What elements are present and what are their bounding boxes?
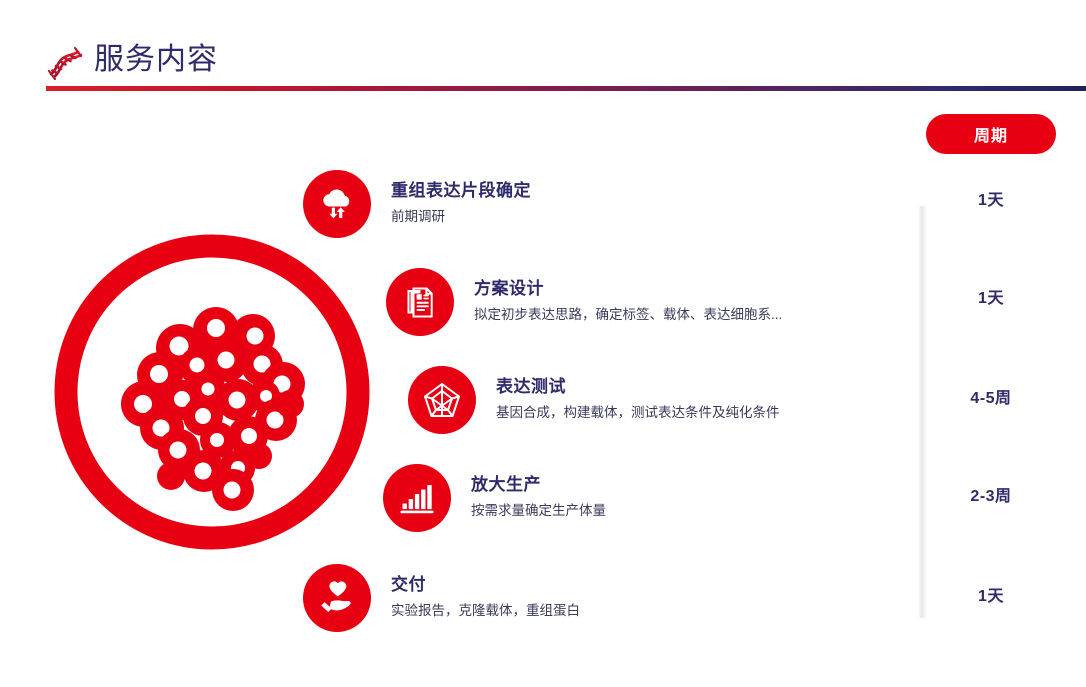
service-step-row[interactable]: 方案设计 拟定初步表达思路，确定标签、载体、表达细胞系... xyxy=(386,254,782,350)
duration-column-header: 周期 xyxy=(926,114,1056,154)
page-title: 服务内容 xyxy=(94,40,218,80)
header-divider xyxy=(46,86,1086,91)
page-header: 服务内容 xyxy=(0,0,1086,92)
duration-column: 周期 1天 1天 4-5周 2-3周 1天 xyxy=(908,106,1086,646)
duration-value: 1天 xyxy=(926,582,1056,606)
documents-icon xyxy=(386,268,454,336)
service-step-subtitle: 实验报告，克隆载体，重组蛋白 xyxy=(391,600,580,622)
service-step-subtitle: 拟定初步表达思路，确定标签、载体、表达细胞系... xyxy=(474,304,782,326)
service-step-title: 方案设计 xyxy=(474,277,782,301)
duration-column-divider xyxy=(918,206,927,618)
service-step-subtitle: 前期调研 xyxy=(391,206,531,228)
service-step-subtitle: 按需求量确定生产体量 xyxy=(471,500,606,522)
service-step-subtitle: 基因合成，构建载体，测试表达条件及纯化条件 xyxy=(496,402,780,424)
service-step-text: 方案设计 拟定初步表达思路，确定标签、载体、表达细胞系... xyxy=(474,277,782,328)
service-step-row[interactable]: 交付 实验报告，克隆载体，重组蛋白 xyxy=(303,550,580,646)
cloud-sync-icon xyxy=(303,170,371,238)
service-step-title: 交付 xyxy=(391,573,580,597)
service-step-text: 重组表达片段确定 前期调研 xyxy=(391,179,531,230)
service-step-text: 交付 实验报告，克隆载体，重组蛋白 xyxy=(391,573,580,624)
bar-chart-growth-icon xyxy=(383,464,451,532)
service-step-row[interactable]: 重组表达片段确定 前期调研 xyxy=(303,156,531,252)
service-step-text: 放大生产 按需求量确定生产体量 xyxy=(471,473,606,524)
service-step-title: 放大生产 xyxy=(471,473,606,497)
pentagon-network-icon xyxy=(408,366,476,434)
service-steps-list: 重组表达片段确定 前期调研 xyxy=(0,150,918,650)
duration-value: 1天 xyxy=(926,284,1056,308)
service-step-text: 表达测试 基因合成，构建载体，测试表达条件及纯化条件 xyxy=(496,375,780,426)
duration-value: 2-3周 xyxy=(926,482,1056,506)
hand-heart-icon xyxy=(303,564,371,632)
service-step-row[interactable]: 表达测试 基因合成，构建载体，测试表达条件及纯化条件 xyxy=(408,352,780,448)
dna-helix-icon xyxy=(44,46,86,80)
service-step-row[interactable]: 放大生产 按需求量确定生产体量 xyxy=(383,450,606,546)
service-step-title: 重组表达片段确定 xyxy=(391,179,531,203)
duration-value: 1天 xyxy=(926,186,1056,210)
duration-value: 4-5周 xyxy=(926,384,1056,408)
service-step-title: 表达测试 xyxy=(496,375,780,399)
